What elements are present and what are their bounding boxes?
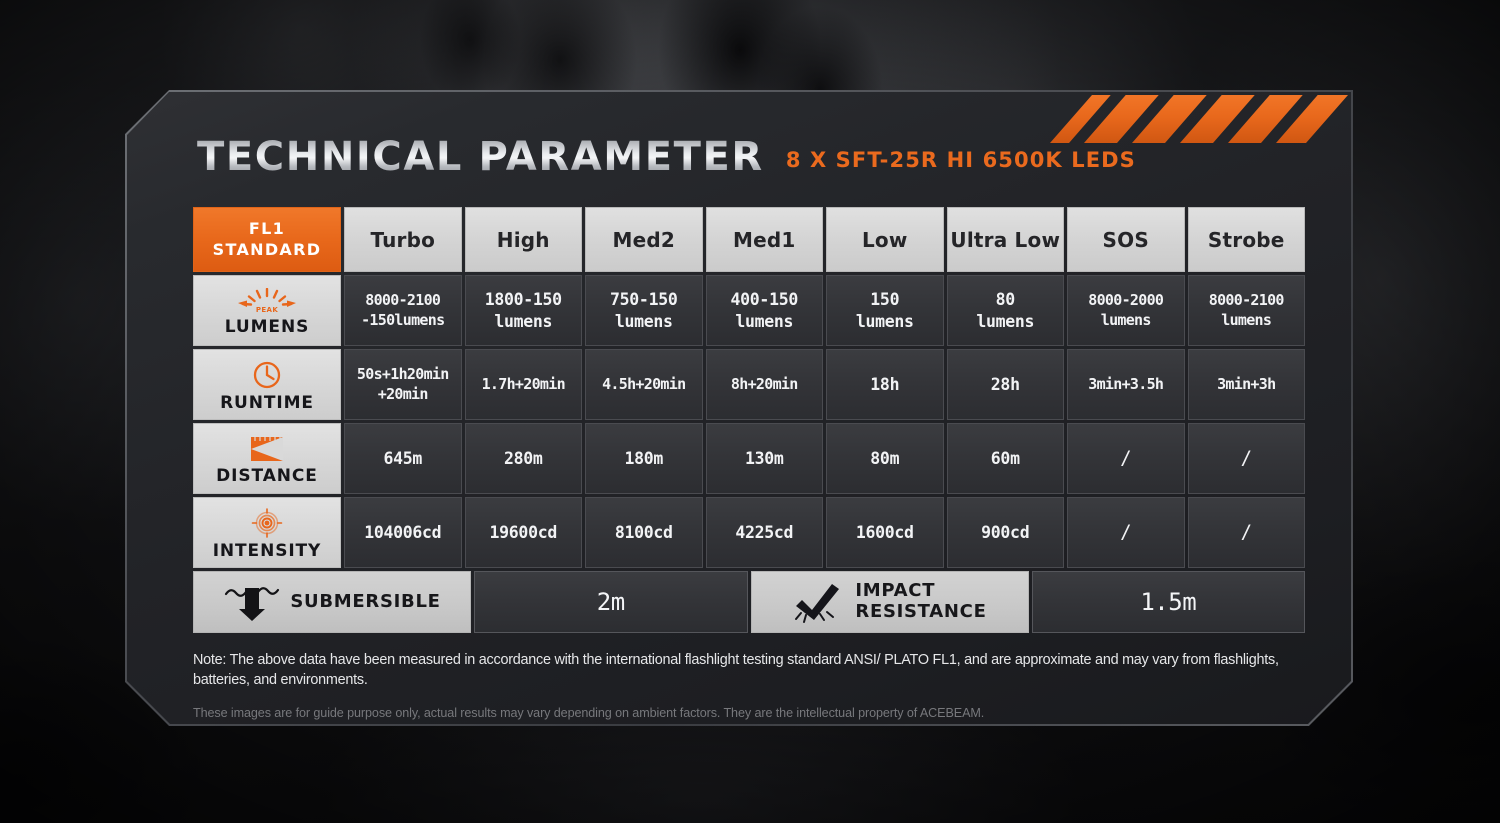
cell-lumens-low: 150 lumens — [826, 275, 944, 346]
cell-intensity-strobe: / — [1188, 497, 1306, 568]
note-sub-text: These images are for guide purpose only,… — [193, 706, 1305, 720]
cell-lumens-med2: 750-150 lumens — [585, 275, 703, 346]
cell-lumens-high: 1800-150 lumens — [465, 275, 583, 346]
fl1-line1: FL1 — [213, 219, 322, 240]
row-label-text-distance: DISTANCE — [216, 466, 318, 486]
cell-intensity-med2: 8100cd — [585, 497, 703, 568]
header-cell-high: High — [465, 207, 583, 272]
feature-row: SUBMERSIBLE 2m — [193, 571, 1305, 633]
row-label-text-runtime: RUNTIME — [220, 393, 314, 413]
value-line1: 50s+1h20min — [357, 365, 449, 384]
note-main-text: Note: The above data have been measured … — [193, 650, 1305, 691]
value-line2: lumens — [856, 311, 914, 332]
cell-lumens-strobe: 8000-2100 lumens — [1188, 275, 1306, 346]
cell-distance-high: 280m — [465, 423, 583, 494]
cell-distance-low: 80m — [826, 423, 944, 494]
cell-runtime-high: 1.7h+20min — [465, 349, 583, 420]
cell-distance-ultra-low: 60m — [947, 423, 1065, 494]
value-line2: lumens — [485, 311, 562, 332]
specifications-table: FL1 STANDARD Turbo High Med2 Med1 Low Ul… — [193, 207, 1305, 633]
table-row-runtime: RUNTIME 50s+1h20min +20min 1.7h+20min 4.… — [193, 349, 1305, 420]
fl1-line2: STANDARD — [213, 240, 322, 261]
technical-parameter-panel: TECHNICAL PARAMETER 8 X SFT-25R HI 6500K… — [125, 90, 1353, 726]
cell-runtime-med2: 4.5h+20min — [585, 349, 703, 420]
cell-runtime-low: 18h — [826, 349, 944, 420]
value-line1: 150 — [856, 289, 914, 310]
panel-header: TECHNICAL PARAMETER 8 X SFT-25R HI 6500K… — [197, 134, 1136, 180]
cell-intensity-low: 1600cd — [826, 497, 944, 568]
cell-runtime-strobe: 3min+3h — [1188, 349, 1306, 420]
feature-text-impact-resistance: IMPACT RESISTANCE — [855, 581, 986, 622]
row-label-text-intensity: INTENSITY — [213, 541, 322, 561]
cell-runtime-turbo: 50s+1h20min +20min — [344, 349, 462, 420]
row-label-lumens: PEAK LUMENS — [193, 275, 341, 346]
header-cell-low: Low — [826, 207, 944, 272]
feature-line2: RESISTANCE — [855, 602, 986, 623]
value-slash: / — [1241, 446, 1252, 470]
header-cell-fl1-standard: FL1 STANDARD — [193, 207, 341, 272]
value-line2: lumens — [976, 311, 1034, 332]
cell-lumens-turbo: 8000-2100 -150lumens — [344, 275, 462, 346]
cell-lumens-sos: 8000-2000 lumens — [1067, 275, 1185, 346]
header-cell-med1: Med1 — [706, 207, 824, 272]
table-row-intensity: INTENSITY 104006cd 19600cd 8100cd 4225cd… — [193, 497, 1305, 568]
value-line1: 8000-2100 — [361, 291, 444, 310]
feature-line1: IMPACT — [855, 581, 986, 602]
cell-distance-turbo: 645m — [344, 423, 462, 494]
cell-lumens-ultra-low: 80 lumens — [947, 275, 1065, 346]
cell-runtime-med1: 8h+20min — [706, 349, 824, 420]
value-line1: 400-150 — [731, 289, 798, 310]
cell-runtime-ultra-low: 28h — [947, 349, 1065, 420]
cell-distance-strobe: / — [1188, 423, 1306, 494]
feature-value-impact-resistance: 1.5m — [1032, 571, 1306, 633]
feature-value-submersible: 2m — [474, 571, 748, 633]
row-label-runtime: RUNTIME — [193, 349, 341, 420]
cell-distance-med2: 180m — [585, 423, 703, 494]
value-line1: 80 — [976, 289, 1034, 310]
page-title: TECHNICAL PARAMETER — [197, 134, 764, 180]
feature-label-submersible: SUBMERSIBLE — [193, 571, 471, 633]
value-line2: +20min — [357, 385, 449, 404]
header-cell-strobe: Strobe — [1188, 207, 1306, 272]
table-row-distance: DISTANCE 645m 280m 180m 130m 80m 60m / / — [193, 423, 1305, 494]
feature-label-impact-resistance: IMPACT RESISTANCE — [751, 571, 1029, 633]
header-cell-sos: SOS — [1067, 207, 1185, 272]
cell-intensity-ultra-low: 900cd — [947, 497, 1065, 568]
cell-intensity-high: 19600cd — [465, 497, 583, 568]
value-line2: lumens — [1088, 311, 1163, 330]
peak-sunburst-icon: PEAK — [235, 288, 299, 314]
value-slash: / — [1120, 520, 1131, 544]
table-row-lumens: PEAK LUMENS 8000-2100 -150lumens 1800-15… — [193, 275, 1305, 346]
feature-text-submersible: SUBMERSIBLE — [290, 592, 440, 613]
impact-resistance-icon — [792, 580, 846, 624]
feature-line1: SUBMERSIBLE — [290, 592, 440, 613]
row-label-distance: DISTANCE — [193, 423, 341, 494]
header-cell-ultra-low: Ultra Low — [947, 207, 1065, 272]
notes-section: Note: The above data have been measured … — [193, 650, 1305, 720]
value-line1: 1800-150 — [485, 289, 562, 310]
value-line2: lumens — [610, 311, 677, 332]
cell-intensity-med1: 4225cd — [706, 497, 824, 568]
header-cell-turbo: Turbo — [344, 207, 462, 272]
cell-runtime-sos: 3min+3.5h — [1067, 349, 1185, 420]
clock-icon — [252, 360, 282, 390]
value-line2: lumens — [731, 311, 798, 332]
row-label-text-lumens: LUMENS — [225, 317, 309, 337]
value-slash: / — [1120, 446, 1131, 470]
header-cell-med2: Med2 — [585, 207, 703, 272]
value-slash: / — [1241, 520, 1252, 544]
value-line1: 8000-2000 — [1088, 291, 1163, 310]
peak-icon-caption: PEAK — [235, 306, 299, 314]
value-line2: -150lumens — [361, 311, 444, 330]
cell-distance-sos: / — [1067, 423, 1185, 494]
value-line1: 8000-2100 — [1209, 291, 1284, 310]
cell-distance-med1: 130m — [706, 423, 824, 494]
cell-lumens-med1: 400-150 lumens — [706, 275, 824, 346]
cell-intensity-turbo: 104006cd — [344, 497, 462, 568]
value-line2: lumens — [1209, 311, 1284, 330]
target-intensity-icon — [251, 508, 283, 538]
water-submersible-icon — [223, 581, 281, 623]
table-header-row: FL1 STANDARD Turbo High Med2 Med1 Low Ul… — [193, 207, 1305, 272]
row-label-intensity: INTENSITY — [193, 497, 341, 568]
cell-intensity-sos: / — [1067, 497, 1185, 568]
value-line1: 750-150 — [610, 289, 677, 310]
led-subtitle: 8 X SFT-25R HI 6500K LEDS — [786, 148, 1136, 172]
beam-distance-icon — [249, 435, 285, 463]
